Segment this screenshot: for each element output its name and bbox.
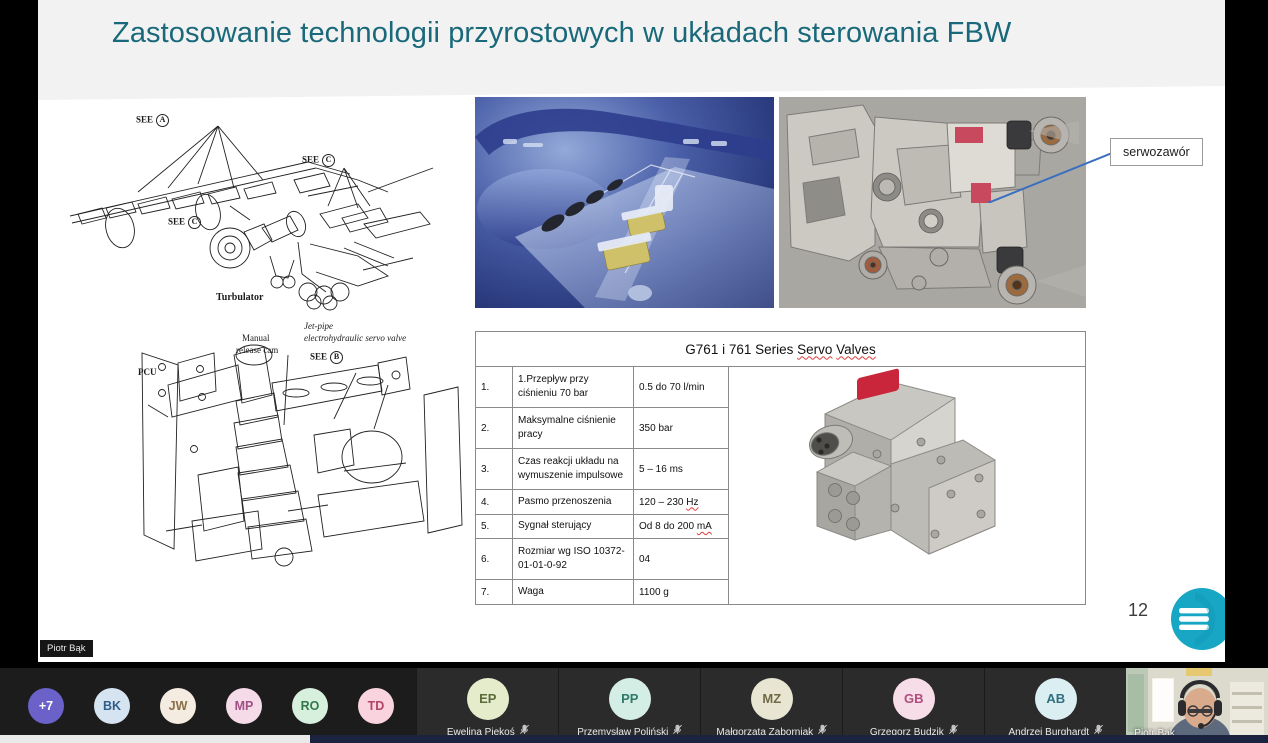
avatar: EP (467, 678, 509, 720)
wing-diagram-svg (58, 96, 438, 311)
row-value: 04 (634, 539, 729, 580)
spec-table-title: G761 i 761 Series Servo Valves (476, 332, 1086, 367)
row-parameter: Rozmiar wg ISO 10372-01-01-0-92 (513, 539, 634, 580)
brand-logo (1169, 586, 1225, 652)
pcu-label: PCU (138, 367, 157, 377)
participant-bar: +7BKJWMPROTD EPEwelina PiękośPPPrzemysła… (0, 668, 1268, 743)
page-title: Zastosowanie technologii przyrostowych w… (112, 14, 1042, 52)
manual-release-label-2: release cam (236, 345, 278, 355)
see-b-ref: B (330, 351, 343, 364)
valve-photo-svg (795, 368, 1027, 573)
wing-actuator-3d-render (475, 97, 774, 308)
participant-tile[interactable]: GBGrzegorz Budzik (842, 668, 984, 743)
row-number: 6. (476, 539, 513, 580)
row-parameter: Pasmo przenoszenia (513, 490, 634, 515)
row-parameter: Maksymalne ciśnienie pracy (513, 408, 634, 449)
participant-tile[interactable]: MZMałgorzata Zaborniak (700, 668, 842, 743)
participant-tiles: EPEwelina PiękośPPPrzemysław PolińskiMZM… (416, 668, 1126, 743)
participant-avatar[interactable]: BK (94, 688, 130, 724)
participant-avatar[interactable]: TD (358, 688, 394, 724)
row-parameter: Waga (513, 580, 634, 605)
jetpipe-label-1: Jet-pipe (304, 321, 333, 331)
row-number: 2. (476, 408, 513, 449)
row-number: 4. (476, 490, 513, 515)
avatar: AB (1035, 678, 1077, 720)
row-value: 0.5 do 70 l/min (634, 367, 729, 408)
row-value: Od 8 do 200 mA (634, 514, 729, 539)
row-value: 120 – 230 Hz (634, 490, 729, 515)
avatar: MZ (751, 678, 793, 720)
turbulator-caption: Turbulator (216, 292, 263, 303)
row-number: 5. (476, 514, 513, 539)
bottom-strip-left (0, 735, 310, 743)
participant-avatar[interactable]: MP (226, 688, 262, 724)
video-tile-self[interactable]: Piotr Bąk (1126, 668, 1268, 743)
avatar: GB (893, 678, 935, 720)
jetpipe-label-2: electrohydraulic servo valve (304, 333, 406, 343)
pcu-diagram-svg (138, 325, 468, 575)
slide-page-number: 12 (1128, 600, 1148, 621)
see-c-bottom-label: SEEC (168, 216, 201, 229)
row-number: 7. (476, 580, 513, 605)
row-value: 5 – 16 ms (634, 449, 729, 490)
render-svg (475, 97, 774, 308)
see-c-top-ref: C (322, 154, 335, 167)
see-a-label: SEEA (136, 114, 169, 127)
see-c-bottom-ref: C (188, 216, 201, 229)
row-parameter: Czas reakcji układu na wymuszenie impuls… (513, 449, 634, 490)
overflow-avatar-strip[interactable]: +7BKJWMPROTD (0, 668, 416, 743)
participant-avatar[interactable]: RO (292, 688, 328, 724)
row-parameter: 1.Przepływ przy ciśnieniu 70 bar (513, 367, 634, 408)
bottom-strip-right (310, 735, 1268, 743)
wing-turbulator-diagram: SEEA SEEC SEEC Turbulator (58, 96, 438, 311)
overflow-count-badge[interactable]: +7 (28, 688, 64, 724)
participant-tile[interactable]: ABAndrzej Burghardt (984, 668, 1126, 743)
row-number: 1. (476, 367, 513, 408)
callout-serwozawor: serwozawór (1110, 138, 1203, 166)
row-number: 3. (476, 449, 513, 490)
manual-release-label-1: Manual (242, 333, 270, 343)
avatar: PP (609, 678, 651, 720)
participant-tile[interactable]: EPEwelina Piękoś (416, 668, 558, 743)
see-a-ref: A (156, 114, 169, 127)
callout-leader-line (988, 147, 1112, 203)
servo-valve-photo (795, 368, 1027, 573)
see-b-label: SEEB (310, 351, 343, 364)
table-header-row: G761 i 761 Series Servo Valves (476, 332, 1086, 367)
slide-presenter-tag: Piotr Bąk (40, 640, 93, 657)
pcu-servo-valve-diagram: PCU Manual release cam Jet-pipe electroh… (138, 325, 468, 575)
participant-avatar[interactable]: JW (160, 688, 196, 724)
presentation-slide[interactable]: Zastosowanie technologii przyrostowych w… (38, 0, 1225, 662)
brand-logo-svg (1169, 586, 1225, 652)
shared-slide-stage[interactable]: Zastosowanie technologii przyrostowych w… (0, 0, 1268, 668)
row-parameter: Sygnał sterujący (513, 514, 634, 539)
see-c-top-label: SEEC (302, 154, 335, 167)
row-value: 1100 g (634, 580, 729, 605)
meeting-screen-share-window: Zastosowanie technologii przyrostowych w… (0, 0, 1268, 743)
participant-tile[interactable]: PPPrzemysław Poliński (558, 668, 700, 743)
row-value: 350 bar (634, 408, 729, 449)
